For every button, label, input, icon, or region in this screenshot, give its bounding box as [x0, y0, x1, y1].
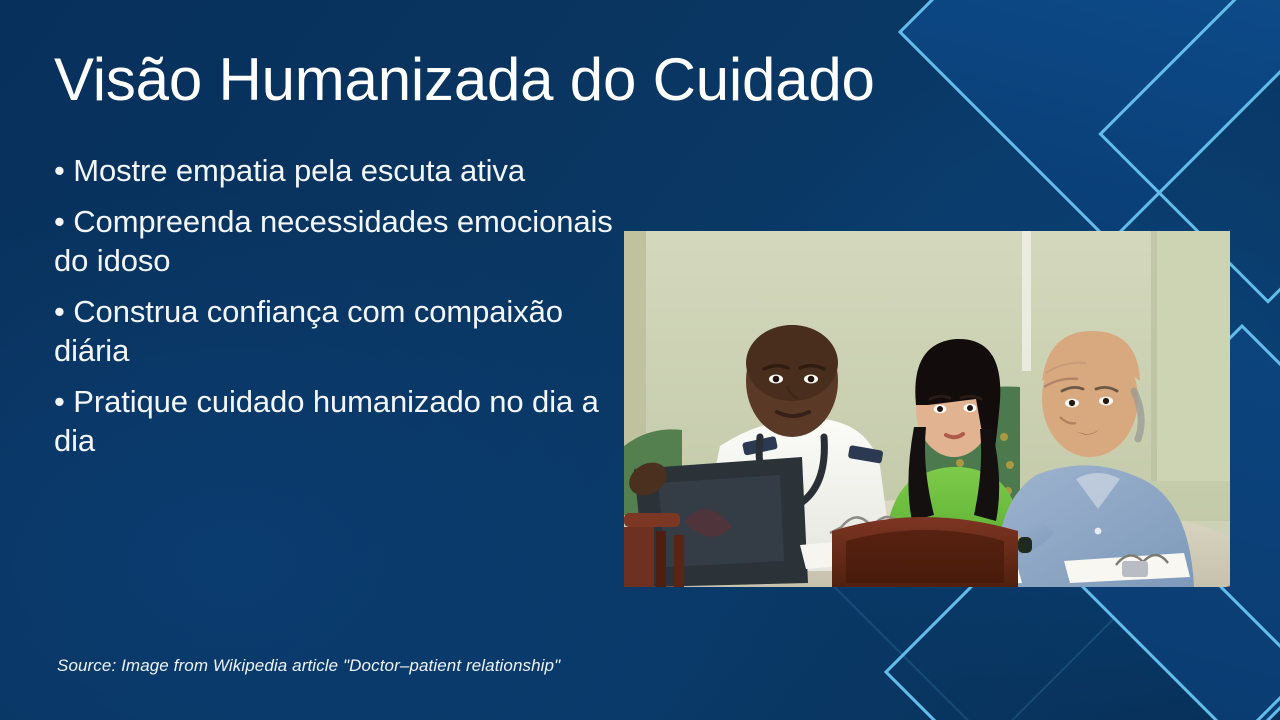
list-item: • Pratique cuidado humanizado no dia a d…: [54, 383, 614, 460]
list-item: • Compreenda necessidades emocionais do …: [54, 203, 614, 280]
slide: Visão Humanizada do Cuidado • Mostre emp…: [0, 0, 1280, 720]
consultation-photo-illustration: [624, 231, 1230, 587]
list-item: • Construa confiança com compaixão diári…: [54, 293, 614, 370]
page-title: Visão Humanizada do Cuidado: [54, 48, 954, 113]
consultation-photo: [624, 231, 1230, 587]
source-caption: Source: Image from Wikipedia article "Do…: [57, 656, 560, 676]
bullet-list: • Mostre empatia pela escuta ativa • Com…: [54, 152, 614, 473]
diamond-filled-top: [898, 0, 1280, 244]
list-item: • Mostre empatia pela escuta ativa: [54, 152, 614, 190]
